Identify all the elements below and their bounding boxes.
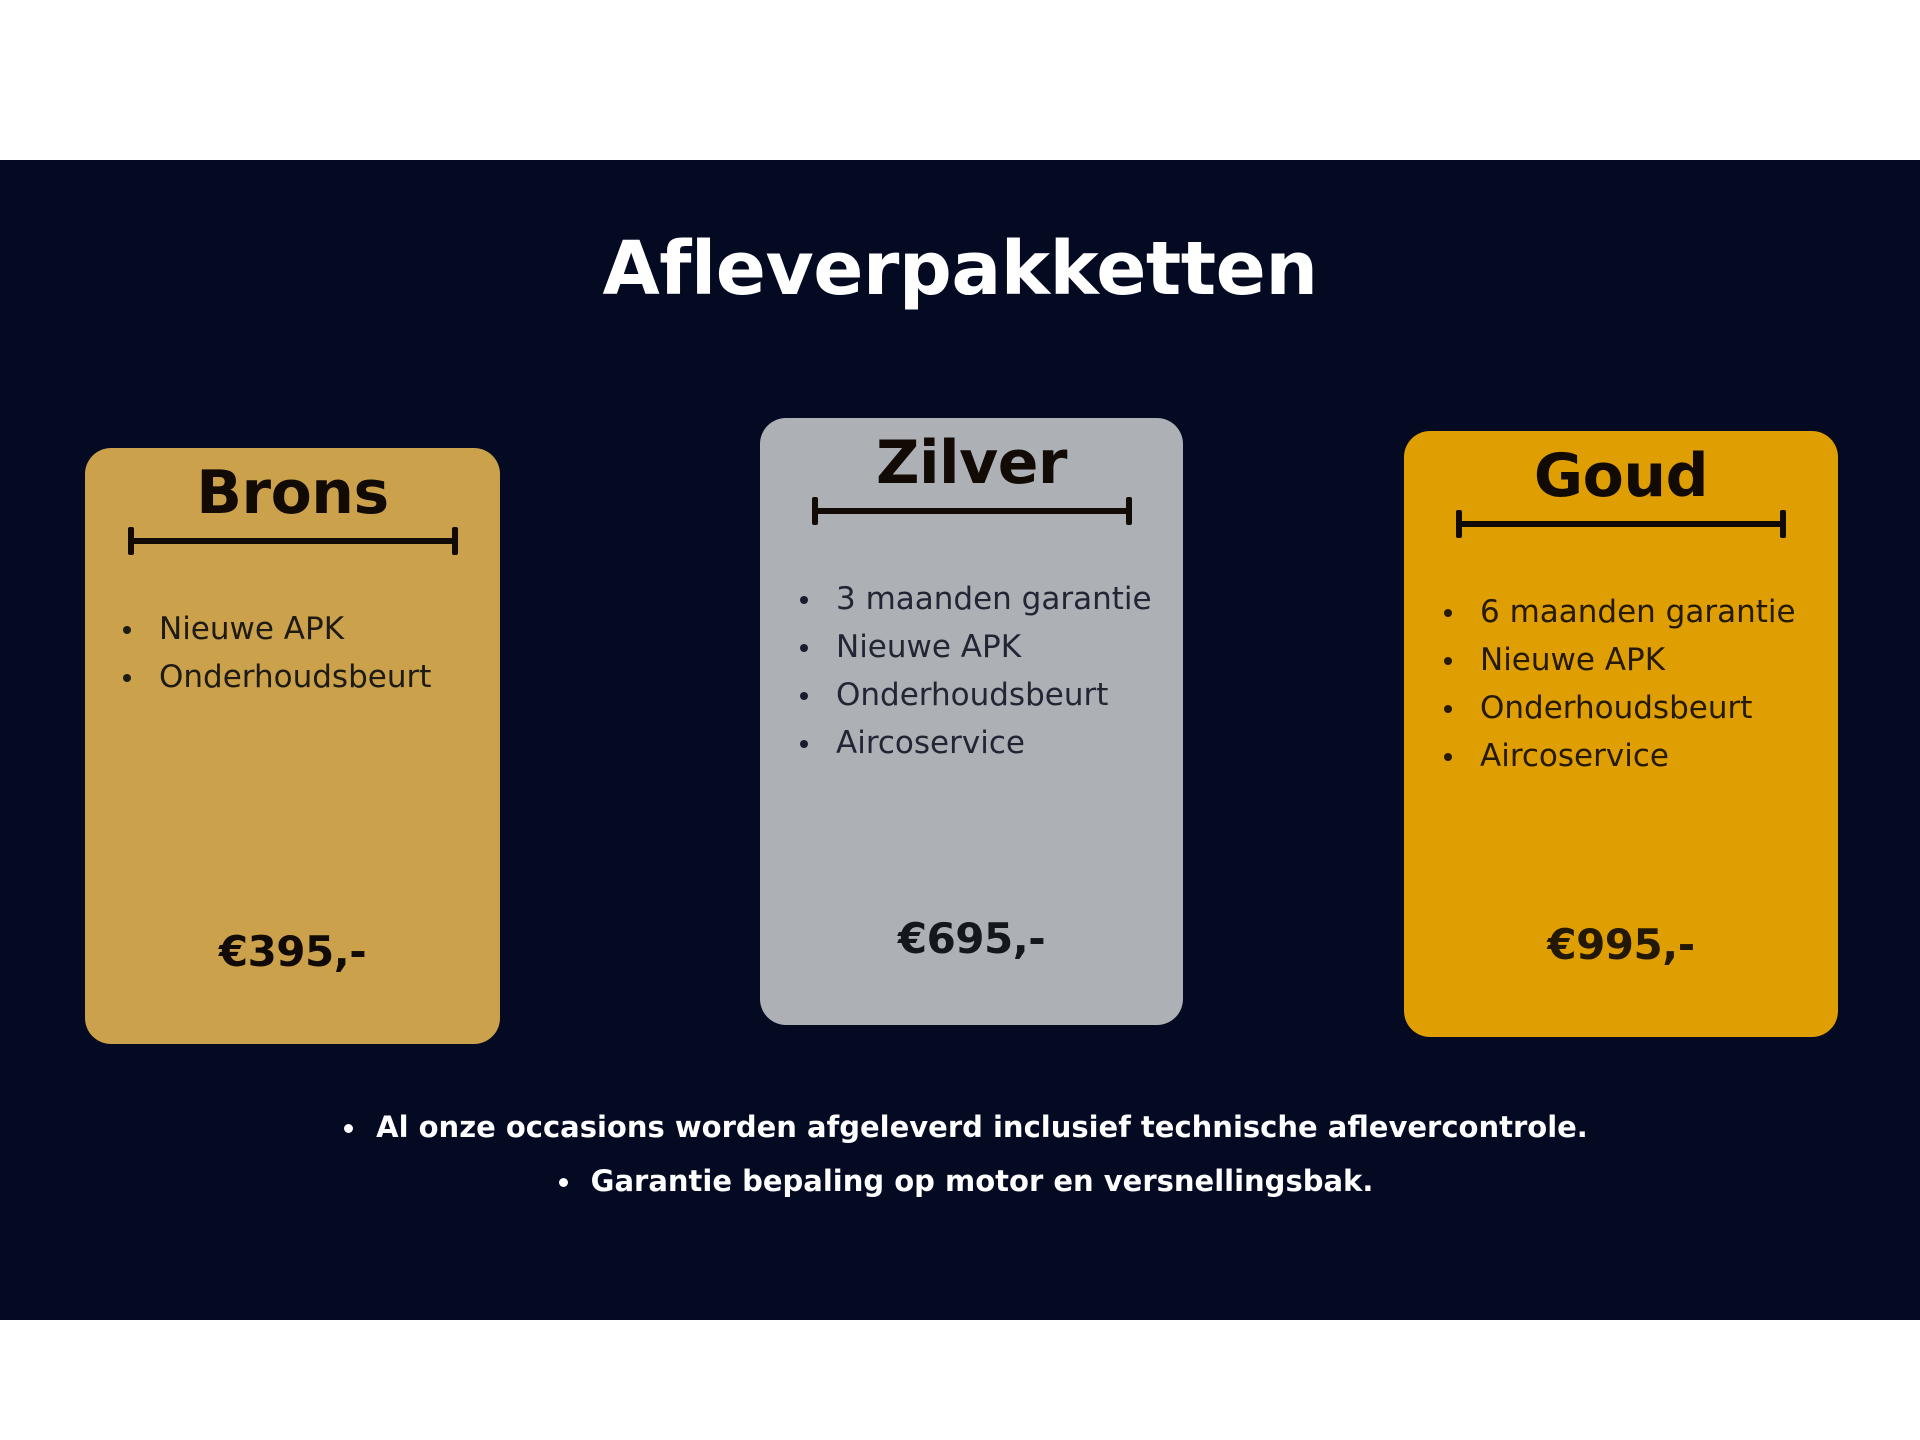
footnote-row: Garantie bepaling op motor en versnellin… bbox=[0, 1154, 1920, 1208]
card-header-silver: Zilver bbox=[760, 418, 1183, 523]
feature-list-bronze: Nieuwe APK Onderhoudsbeurt bbox=[117, 605, 500, 701]
package-price-bronze: €395,- bbox=[85, 927, 500, 976]
ibeam-divider-icon bbox=[812, 497, 1132, 523]
list-item: Aircoservice bbox=[794, 719, 1183, 767]
ibeam-cap-right bbox=[1780, 510, 1786, 538]
package-price-gold: €995,- bbox=[1404, 920, 1838, 969]
list-item: Onderhoudsbeurt bbox=[1438, 684, 1838, 732]
package-card-bronze[interactable]: Brons Nieuwe APK Onderhoudsbeurt €395,- bbox=[85, 448, 500, 1044]
footnote-item: Garantie bepaling op motor en versnellin… bbox=[547, 1154, 1374, 1208]
ibeam-bar bbox=[812, 508, 1132, 514]
card-header-bronze: Brons bbox=[85, 448, 500, 553]
ibeam-bar bbox=[128, 538, 458, 544]
package-name-gold: Goud bbox=[1404, 445, 1838, 508]
list-item: 3 maanden garantie bbox=[794, 575, 1183, 623]
ibeam-bar bbox=[1456, 521, 1786, 527]
footnote-list: Al onze occasions worden afgeleverd incl… bbox=[0, 1100, 1920, 1208]
slide-canvas: Afleverpakketten Brons Nieuwe APK Onderh… bbox=[0, 0, 1920, 1440]
list-item: Nieuwe APK bbox=[1438, 636, 1838, 684]
footnote-item: Al onze occasions worden afgeleverd incl… bbox=[332, 1100, 1588, 1154]
package-name-bronze: Brons bbox=[85, 462, 500, 525]
ibeam-divider-icon bbox=[128, 527, 458, 553]
package-card-group: Brons Nieuwe APK Onderhoudsbeurt €395,- … bbox=[0, 0, 1920, 1440]
package-price-silver: €695,- bbox=[760, 914, 1183, 963]
feature-list-silver: 3 maanden garantie Nieuwe APK Onderhouds… bbox=[794, 575, 1183, 767]
ibeam-cap-right bbox=[1126, 497, 1132, 525]
package-name-silver: Zilver bbox=[760, 432, 1183, 495]
feature-list-gold: 6 maanden garantie Nieuwe APK Onderhouds… bbox=[1438, 588, 1838, 780]
list-item: 6 maanden garantie bbox=[1438, 588, 1838, 636]
list-item: Onderhoudsbeurt bbox=[117, 653, 500, 701]
package-card-gold[interactable]: Goud 6 maanden garantie Nieuwe APK Onder… bbox=[1404, 431, 1838, 1037]
card-header-gold: Goud bbox=[1404, 431, 1838, 536]
list-item: Aircoservice bbox=[1438, 732, 1838, 780]
list-item: Nieuwe APK bbox=[117, 605, 500, 653]
footnote-row: Al onze occasions worden afgeleverd incl… bbox=[0, 1100, 1920, 1154]
list-item: Onderhoudsbeurt bbox=[794, 671, 1183, 719]
ibeam-cap-right bbox=[452, 527, 458, 555]
ibeam-divider-icon bbox=[1456, 510, 1786, 536]
list-item: Nieuwe APK bbox=[794, 623, 1183, 671]
package-card-silver[interactable]: Zilver 3 maanden garantie Nieuwe APK Ond… bbox=[760, 418, 1183, 1025]
